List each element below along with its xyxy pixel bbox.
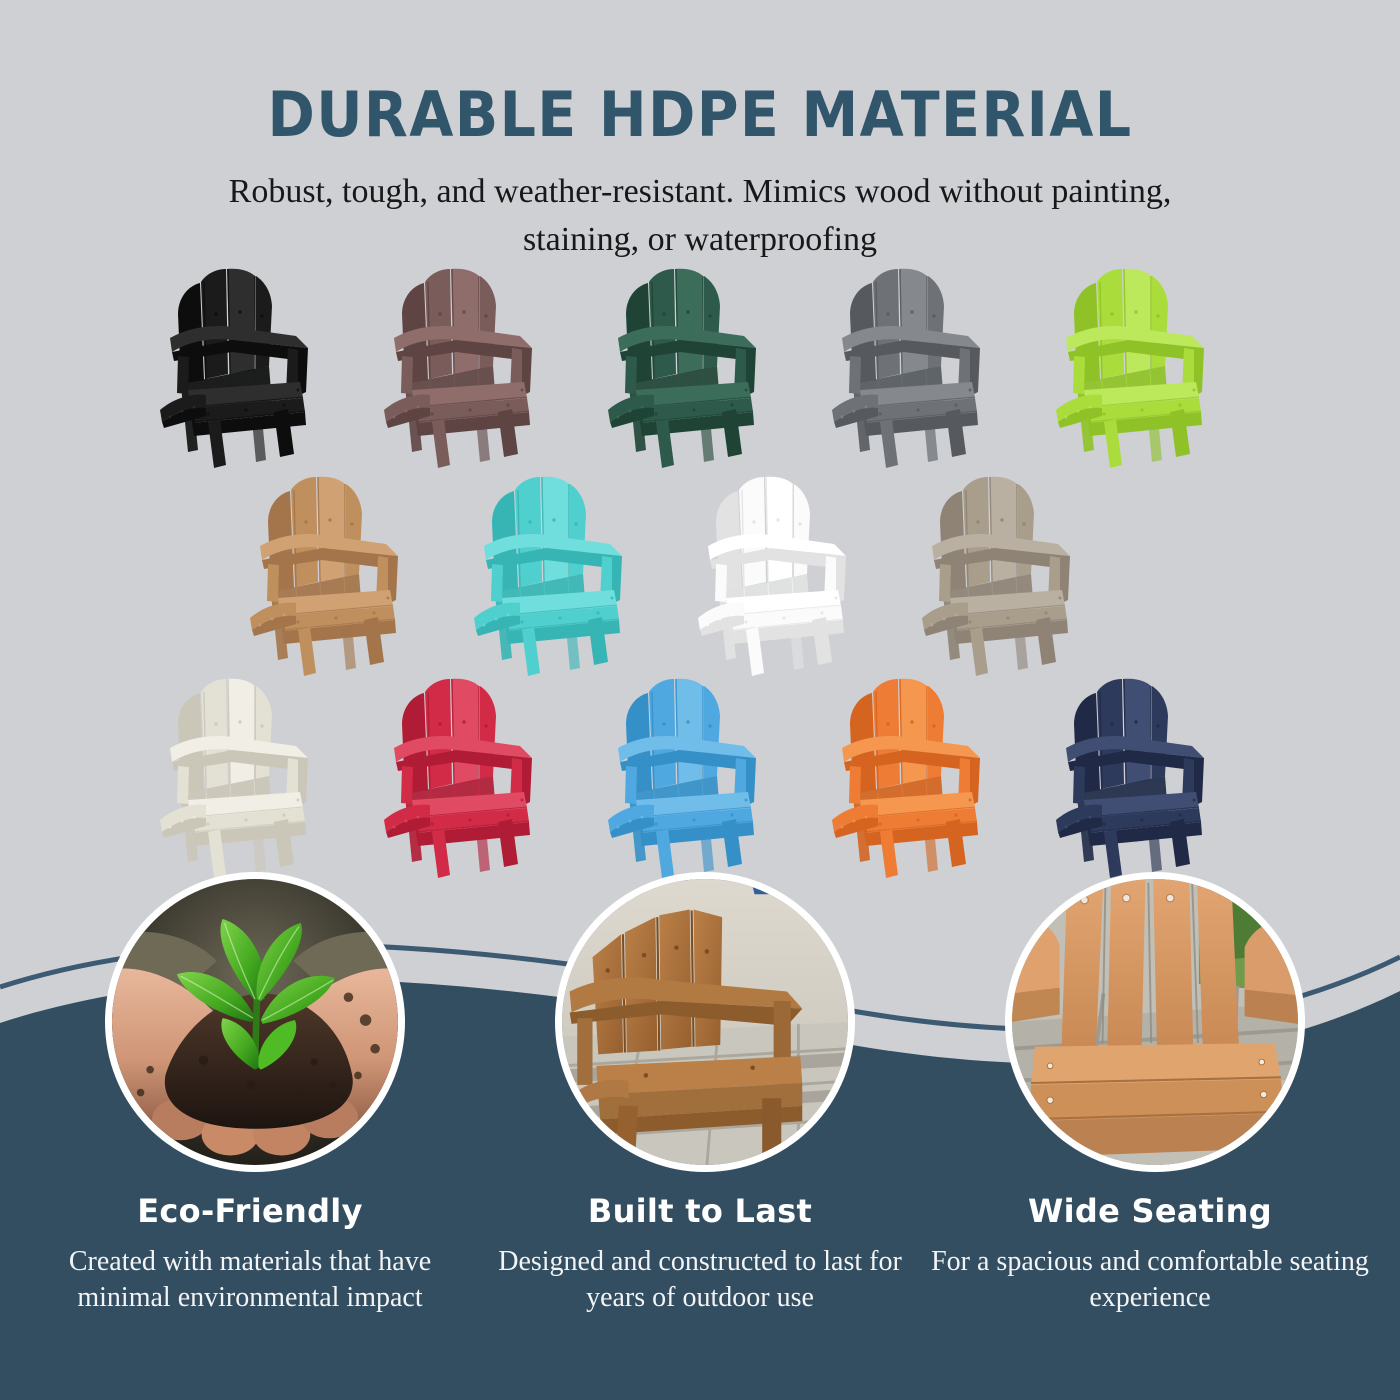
chair-swatch-white[interactable] [686, 470, 896, 680]
eco-photo-image [112, 879, 398, 1165]
chair-swatch-dark-green[interactable] [596, 262, 806, 472]
adirondack-chair-weathered-wood [910, 470, 1120, 680]
built-photo-image [562, 879, 848, 1165]
page-title: DURABLE HDPE MATERIAL [56, 78, 1344, 151]
chair-swatch-light-blue[interactable] [596, 672, 806, 882]
feature-desc-built: Designed and constructed to last for yea… [475, 1244, 925, 1317]
chair-swatch-teak[interactable] [238, 470, 448, 680]
adirondack-chair-red [372, 672, 582, 882]
chair-swatch-weathered-wood[interactable] [910, 470, 1120, 680]
chair-swatch-brown[interactable] [372, 262, 582, 472]
adirondack-chair-orange [820, 672, 1030, 882]
top-section: DURABLE HDPE MATERIAL Robust, tough, and… [0, 0, 1400, 1000]
feature-photo-eco [105, 872, 405, 1172]
feature-caption-eco: Eco-Friendly Created with materials that… [25, 1192, 475, 1317]
chair-color-row-3 [0, 672, 1400, 882]
adirondack-chair-navy-blue [1044, 672, 1254, 882]
feature-desc-eco: Created with materials that have minimal… [25, 1244, 475, 1317]
feature-desc-wide: For a spacious and comfortable seating e… [925, 1244, 1375, 1317]
feature-title-wide: Wide Seating [925, 1192, 1375, 1230]
adirondack-chair-turquoise [462, 470, 672, 680]
adirondack-chair-teak [238, 470, 448, 680]
adirondack-chair-black [148, 262, 358, 472]
chair-swatch-ivory[interactable] [148, 672, 358, 882]
chair-swatch-black[interactable] [148, 262, 358, 472]
feature-caption-wide: Wide Seating For a spacious and comforta… [925, 1192, 1375, 1317]
hands-holding-seedling-icon [112, 879, 398, 1165]
feature-photo-built [555, 872, 855, 1172]
adirondack-chair-white [686, 470, 896, 680]
wide-photo-image [1012, 879, 1298, 1165]
adirondack-chair-gray [820, 262, 1030, 472]
chair-swatch-orange[interactable] [820, 672, 1030, 882]
chair-swatch-navy-blue[interactable] [1044, 672, 1254, 882]
adirondack-chair-lime-green [1044, 262, 1254, 472]
adirondack-chair-ivory [148, 672, 358, 882]
chair-color-row-1 [0, 262, 1400, 472]
wide-seat-closeup-icon [1012, 879, 1298, 1165]
page-subtitle: Robust, tough, and weather-resistant. Mi… [200, 168, 1200, 265]
chair-color-row-2 [0, 470, 1400, 680]
feature-photo-wide [1005, 872, 1305, 1172]
chair-swatch-red[interactable] [372, 672, 582, 882]
chair-swatch-turquoise[interactable] [462, 470, 672, 680]
adirondack-chair-brown [372, 262, 582, 472]
chair-swatch-gray[interactable] [820, 262, 1030, 472]
feature-title-eco: Eco-Friendly [25, 1192, 475, 1230]
adirondack-chair-dark-green [596, 262, 806, 472]
teak-chair-on-patio-icon [562, 879, 848, 1165]
chair-swatch-lime-green[interactable] [1044, 262, 1254, 472]
feature-title-built: Built to Last [475, 1192, 925, 1230]
feature-caption-built: Built to Last Designed and constructed t… [475, 1192, 925, 1317]
adirondack-chair-light-blue [596, 672, 806, 882]
